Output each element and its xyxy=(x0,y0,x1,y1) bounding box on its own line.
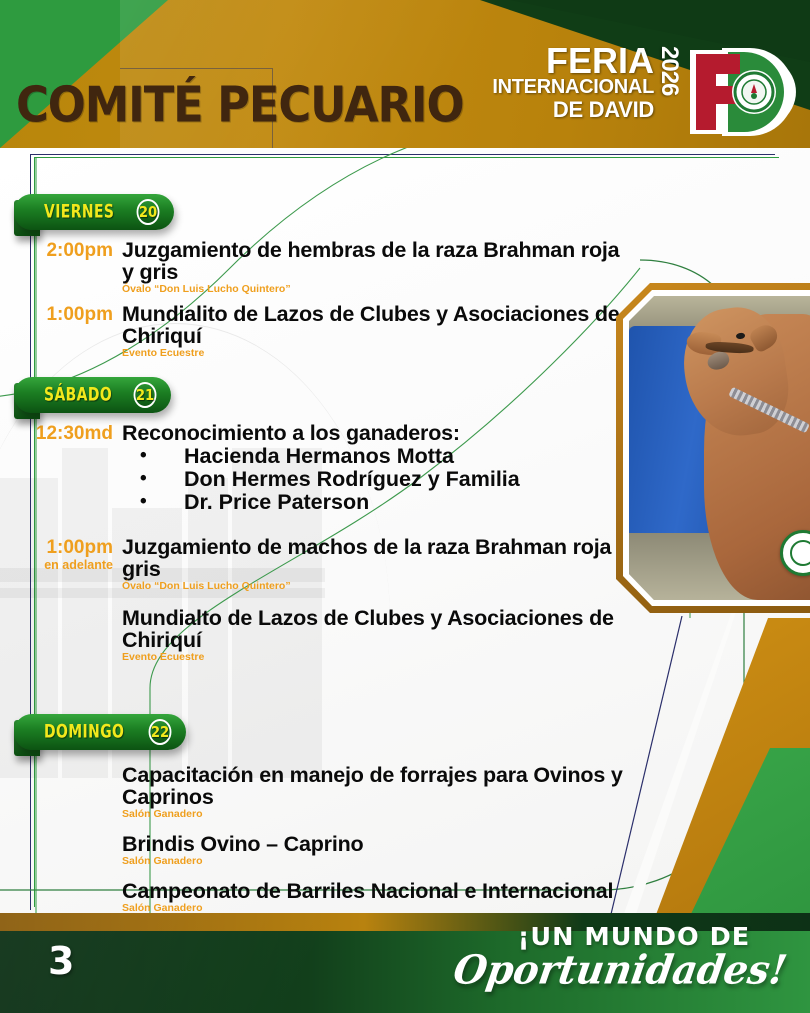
day-group-sabado: SÁBADO 21 12:30md Reconocimiento a los g… xyxy=(0,377,640,664)
day-label: VIERNES xyxy=(44,201,114,223)
fd-monogram-icon xyxy=(682,44,802,140)
event-row[interactable]: Capacitación en manejo de forrajes para … xyxy=(0,764,640,821)
list-item: Dr. Price Paterson xyxy=(122,491,630,514)
event-time-col: 2:00pm xyxy=(0,239,122,261)
header-rule-horizontal xyxy=(120,68,272,69)
day-number: 22 xyxy=(149,719,172,745)
event-venue: Evento Ecuestre xyxy=(122,651,630,664)
event-time-col xyxy=(0,880,122,881)
page-footer: 3 ¡UN MUNDO DE Oportunidades! xyxy=(0,913,810,1013)
page-number: 3 xyxy=(48,941,74,981)
footer-slogan-bottom: Oportunidades! xyxy=(450,946,790,994)
event-time-col xyxy=(0,607,122,608)
event-body: Juzgamiento de machos de la raza Brahman… xyxy=(122,536,640,593)
day-badge-viernes[interactable]: VIERNES 20 xyxy=(14,194,174,230)
event-row[interactable]: 12:30md Reconocimiento a los ganaderos: … xyxy=(0,422,640,514)
event-time-col: 1:00pm xyxy=(0,303,122,325)
event-body: Reconocimiento a los ganaderos: Hacienda… xyxy=(122,422,640,514)
event-body: Mundialito de Lazos de Clubes y Asociaci… xyxy=(122,303,640,360)
event-title: Mundialito de Lazos de Clubes y Asociaci… xyxy=(122,303,630,347)
event-title: Brindis Ovino – Caprino xyxy=(122,833,630,855)
event-time: 2:00pm xyxy=(0,240,113,261)
event-body: Campeonato de Barriles Nacional e Intern… xyxy=(122,880,640,913)
event-row[interactable]: Campeonato de Barriles Nacional e Intern… xyxy=(0,880,640,913)
photo-bull-eye xyxy=(735,332,745,340)
day-badge-domingo[interactable]: DOMINGO 22 xyxy=(14,714,186,750)
day-badge-sabado[interactable]: SÁBADO 21 xyxy=(14,377,171,413)
schedule-list: VIERNES 20 2:00pm Juzgamiento de hembras… xyxy=(0,148,640,913)
event-venue: Evento Ecuestre xyxy=(122,347,630,360)
event-title: Mundialto de Lazos de Clubes y Asociacio… xyxy=(122,607,630,651)
page-header: COMITÉ PECUARIO FERIA INTERNACIONAL DE D… xyxy=(0,0,810,148)
brochure-page: COMITÉ PECUARIO FERIA INTERNACIONAL DE D… xyxy=(0,0,810,1013)
event-row[interactable]: 2:00pm Juzgamiento de hembras de la raza… xyxy=(0,239,640,296)
event-time: 1:00pm xyxy=(0,537,113,558)
feria-logo-wordmark: FERIA INTERNACIONAL DE DAVID xyxy=(492,44,654,121)
content-area: VIERNES 20 2:00pm Juzgamiento de hembras… xyxy=(0,148,810,913)
feria-logo-line1: FERIA xyxy=(492,44,654,77)
event-venue: Salón Ganadero xyxy=(122,855,630,868)
badge-pill: SÁBADO 21 xyxy=(14,377,171,413)
event-venue: Salón Ganadero xyxy=(122,902,630,913)
event-body: Mundialto de Lazos de Clubes y Asociacio… xyxy=(122,607,640,664)
day-label: SÁBADO xyxy=(44,384,112,406)
event-time-note: en adelante xyxy=(0,558,113,573)
day-number: 20 xyxy=(136,199,159,225)
list-item: Hacienda Hermanos Motta xyxy=(122,445,630,468)
day-group-viernes: VIERNES 20 2:00pm Juzgamiento de hembras… xyxy=(0,194,640,360)
event-time-col xyxy=(0,833,122,834)
day-number: 21 xyxy=(134,382,157,408)
event-time-col: 1:00pm en adelante xyxy=(0,536,122,573)
brahman-bull-photo xyxy=(629,296,810,600)
event-time: 1:00pm xyxy=(0,304,113,325)
badge-pill: DOMINGO 22 xyxy=(14,714,186,750)
event-time: 12:30md xyxy=(0,423,113,444)
feria-logo-line3: DE DAVID xyxy=(492,98,654,121)
event-venue: Salón Ganadero xyxy=(122,808,630,821)
event-row[interactable]: Mundialto de Lazos de Clubes y Asociacio… xyxy=(0,607,640,664)
feria-logo-year: 2026 xyxy=(658,46,680,95)
event-title: Campeonato de Barriles Nacional e Intern… xyxy=(122,880,630,902)
event-body: Brindis Ovino – Caprino Salón Ganadero xyxy=(122,833,640,868)
page-title: COMITÉ PECUARIO xyxy=(16,81,463,130)
event-venue: Óvalo “Don Luis Lucho Quintero” xyxy=(122,580,630,593)
day-group-domingo: DOMINGO 22 Capacitación en manejo de for… xyxy=(0,714,640,913)
feria-logo: FERIA INTERNACIONAL DE DAVID 2026 xyxy=(502,44,802,140)
badge-pill: VIERNES 20 xyxy=(14,194,174,230)
event-row[interactable]: 1:00pm en adelante Juzgamiento de machos… xyxy=(0,536,640,593)
event-body: Capacitación en manejo de forrajes para … xyxy=(122,764,640,821)
event-title: Juzgamiento de machos de la raza Brahman… xyxy=(122,536,630,580)
event-title: Capacitación en manejo de forrajes para … xyxy=(122,764,630,808)
event-body: Juzgamiento de hembras de la raza Brahma… xyxy=(122,239,640,296)
event-venue: Óvalo “Don Luis Lucho Quintero” xyxy=(122,283,630,296)
day-label: DOMINGO xyxy=(44,721,124,743)
event-row[interactable]: Brindis Ovino – Caprino Salón Ganadero xyxy=(0,833,640,868)
event-title: Juzgamiento de hembras de la raza Brahma… xyxy=(122,239,630,283)
event-time-col: 12:30md xyxy=(0,422,122,444)
event-bullet-list: Hacienda Hermanos Motta Don Hermes Rodrí… xyxy=(122,445,630,514)
event-title: Reconocimiento a los ganaderos: xyxy=(122,422,630,444)
event-row[interactable]: 1:00pm Mundialito de Lazos de Clubes y A… xyxy=(0,303,640,360)
event-time-col xyxy=(0,764,122,765)
list-item: Don Hermes Rodríguez y Familia xyxy=(122,468,630,491)
